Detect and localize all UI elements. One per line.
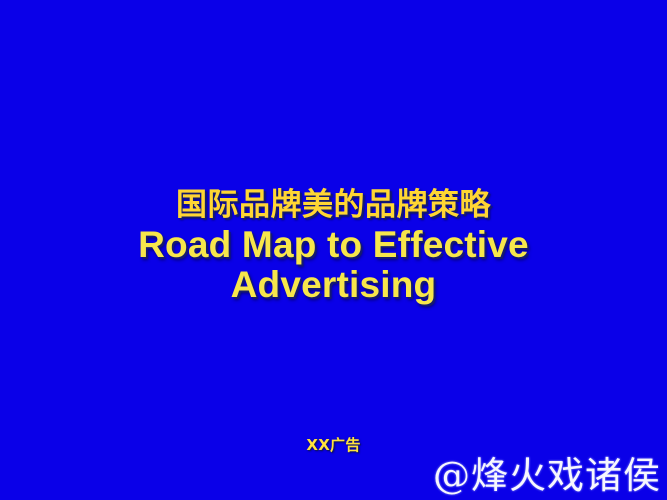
slide-title-block: 国际品牌美的品牌策略 Road Map to Effective Adverti… — [0, 190, 667, 306]
watermark-label: @烽火戏诸侯 — [433, 445, 661, 499]
slide-title-chinese: 国际品牌美的品牌策略 — [0, 190, 667, 226]
slide-title-english-line-2: Advertising — [0, 266, 667, 306]
presentation-slide: 国际品牌美的品牌策略 Road Map to Effective Adverti… — [0, 0, 667, 500]
slide-title-english-line-1: Road Map to Effective — [0, 226, 667, 266]
